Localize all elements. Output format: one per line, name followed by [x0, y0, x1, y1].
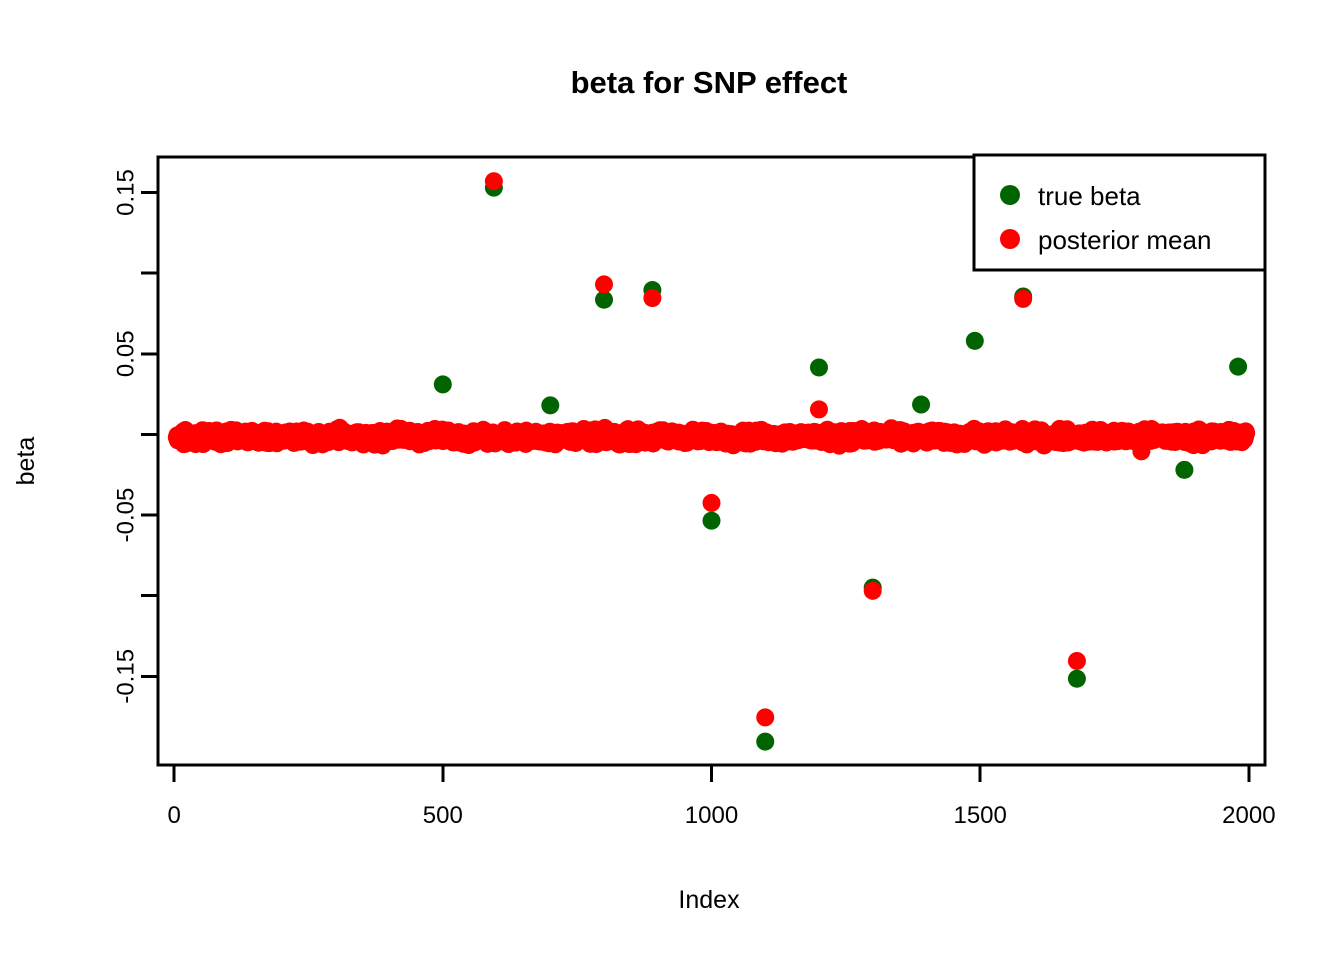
page-title: beta for SNP effect: [571, 65, 848, 100]
data-point: [595, 291, 613, 309]
data-point: [756, 733, 774, 751]
data-point: [810, 400, 828, 418]
posterior-mean-band: [168, 419, 1255, 455]
data-point: [912, 396, 930, 414]
x-tick-label: 1000: [685, 802, 738, 829]
data-point: [485, 172, 503, 190]
data-point: [1014, 290, 1032, 308]
posterior-mean-point: [1237, 424, 1255, 442]
x-axis-label: Index: [678, 886, 740, 914]
data-point: [643, 289, 661, 307]
x-tick-label: 1500: [953, 802, 1006, 829]
y-tick-label: -0.05: [113, 488, 140, 543]
x-tick-label: 0: [167, 802, 180, 829]
data-point: [1068, 652, 1086, 670]
legend-marker-posterior-mean: [1000, 229, 1020, 249]
legend-label-posterior-mean: posterior mean: [1038, 225, 1211, 255]
y-axis-label: beta: [12, 437, 40, 486]
legend-marker-true-beta: [1000, 185, 1020, 205]
data-point: [966, 332, 984, 350]
data-point: [1229, 358, 1247, 376]
data-point: [434, 375, 452, 393]
y-tick-label: -0.15: [113, 649, 140, 704]
legend-label-true-beta: true beta: [1038, 181, 1141, 211]
data-point: [1175, 461, 1193, 479]
x-tick-label: 500: [423, 802, 463, 829]
data-point: [703, 512, 721, 530]
y-tick-label: 0.15: [113, 169, 140, 216]
y-tick-label: 0.05: [113, 330, 140, 377]
chart-figure: beta for SNP effect 0500100015002000 0.1…: [0, 0, 1344, 960]
data-point: [756, 708, 774, 726]
data-point: [810, 358, 828, 376]
data-point: [864, 582, 882, 600]
plot-background: [0, 0, 1344, 960]
x-tick-label: 2000: [1222, 802, 1275, 829]
scatter-plot-svg: beta for SNP effect 0500100015002000 0.1…: [0, 0, 1344, 960]
data-point: [703, 494, 721, 512]
data-point: [1068, 670, 1086, 688]
legend[interactable]: true beta posterior mean: [974, 155, 1265, 270]
data-point: [1132, 442, 1150, 460]
data-point: [595, 275, 613, 293]
data-point: [541, 396, 559, 414]
